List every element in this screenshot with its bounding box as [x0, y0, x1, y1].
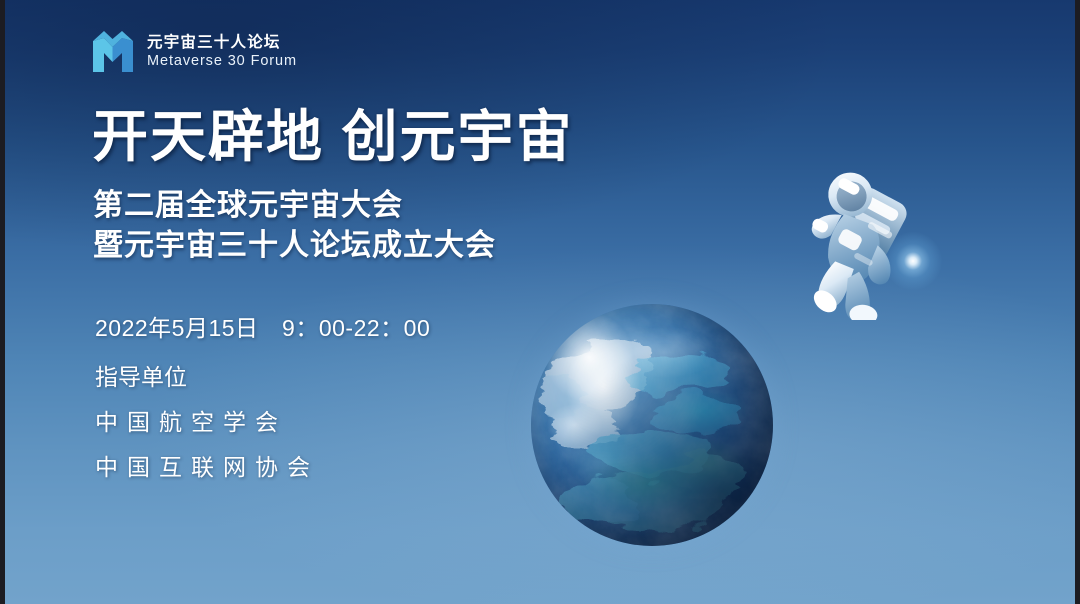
- earth-globe-illustration: [531, 304, 773, 546]
- left-letterbox-bar: [0, 0, 5, 604]
- page-title: 开天辟地 创元宇宙: [92, 92, 574, 173]
- logo-name-cn: 元宇宙三十人论坛: [147, 35, 297, 51]
- subtitle-line-2: 暨元宇宙三十人论坛成立大会: [93, 226, 496, 266]
- earth-texture: [531, 304, 773, 546]
- logo-name-en: Metaverse 30 Forum: [147, 54, 297, 69]
- event-datetime: 2022年5月15日 9：00-22：00: [95, 309, 430, 343]
- metaverse-m-logo-icon: [90, 29, 136, 74]
- earth-shading: [531, 304, 773, 546]
- organizer-item-1: 中国航空学会: [95, 400, 319, 445]
- subtitle-line-1: 第二届全球元宇宙大会: [93, 186, 496, 226]
- logo-text: 元宇宙三十人论坛 Metaverse 30 Forum: [147, 35, 297, 69]
- event-poster: 元宇宙三十人论坛 Metaverse 30 Forum 开天辟地 创元宇宙 第二…: [0, 0, 1080, 604]
- organizer-item-2: 中国互联网协会: [95, 445, 319, 490]
- right-letterbox-bar: [1075, 0, 1080, 604]
- forum-logo: 元宇宙三十人论坛 Metaverse 30 Forum: [90, 29, 297, 74]
- floating-astronaut-illustration: [776, 152, 944, 320]
- organizers-label: 指导单位: [95, 355, 319, 400]
- subtitle-block: 第二届全球元宇宙大会 暨元宇宙三十人论坛成立大会: [93, 186, 496, 265]
- organizers-block: 指导单位 中国航空学会 中国互联网协会: [95, 355, 319, 490]
